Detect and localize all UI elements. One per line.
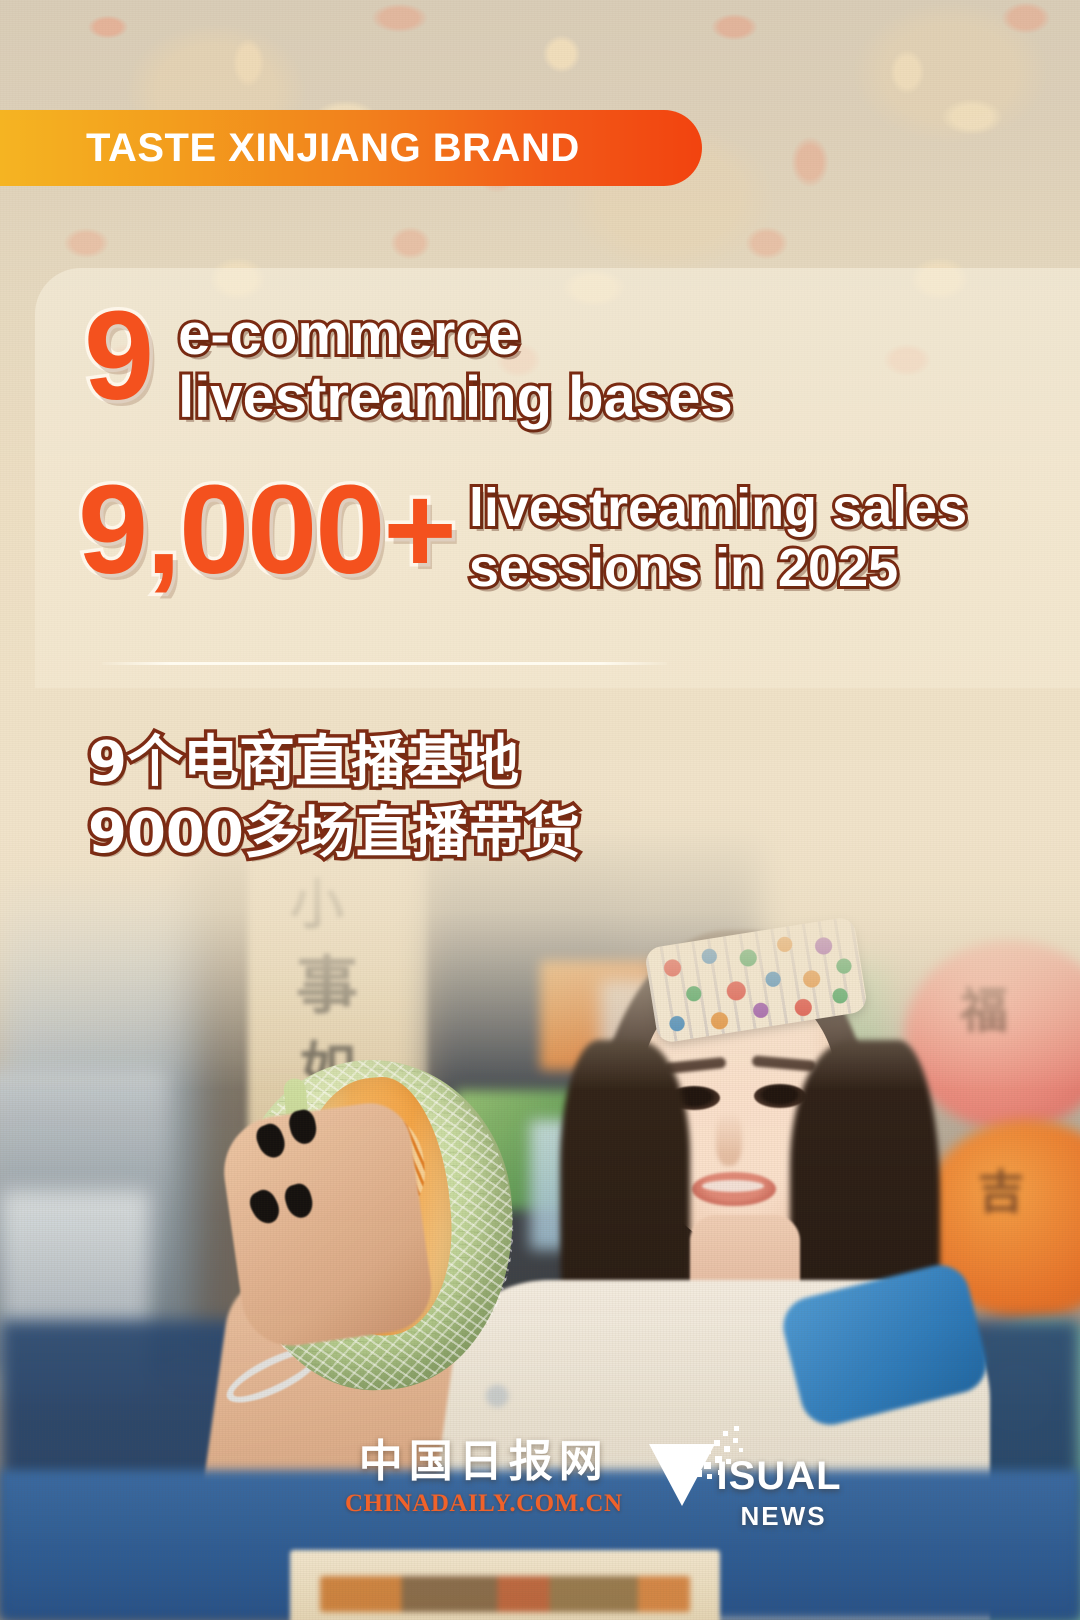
stat-row-2: 9,000+ livestreaming salessessions in 20…: [78, 470, 967, 599]
poster-root: 小 事 如 意 风 福 吉: [0, 0, 1080, 1620]
chinadaily-logo[interactable]: 中国日报网 CHINADAILY.COM.CN: [345, 1440, 623, 1516]
news-word: NEWS: [741, 1503, 842, 1529]
stat-2-line2: sessions in 2025: [469, 538, 898, 598]
visual-news-logo[interactable]: ISUAL NEWS: [649, 1442, 842, 1529]
stat-2-line1: livestreaming sales: [469, 478, 967, 538]
stat-1-text: e-commercelivestreaming bases: [178, 304, 733, 429]
stat-2-number: 9,000+: [78, 470, 455, 590]
stat-1-number: 9: [84, 296, 154, 417]
stat-1-line2: livestreaming bases: [178, 365, 733, 430]
stat-2-text: livestreaming salessessions in 2025: [469, 478, 967, 599]
chinadaily-url: CHINADAILY.COM.CN: [345, 1491, 623, 1516]
chinese-line-1: 9个电商直播基地: [88, 730, 519, 795]
section-divider: [102, 662, 667, 665]
stat-row-1: 9 e-commercelivestreaming bases: [84, 296, 733, 429]
chinese-caption: 9个电商直播基地9000多场直播带货: [88, 728, 580, 869]
stat-1-line1: e-commerce: [178, 302, 520, 367]
logo-row: 中国日报网 CHINADAILY.COM.CN: [345, 1440, 842, 1529]
chinese-line-2: 9000多场直播带货: [88, 801, 580, 866]
chinadaily-chinese-wordmark: 中国日报网: [359, 1440, 609, 1484]
banner-title: TASTE XINJIANG BRAND: [86, 126, 580, 171]
visual-pixel-dots-icon: [693, 1426, 747, 1486]
taste-xinjiang-banner: TASTE XINJIANG BRAND: [0, 110, 702, 186]
